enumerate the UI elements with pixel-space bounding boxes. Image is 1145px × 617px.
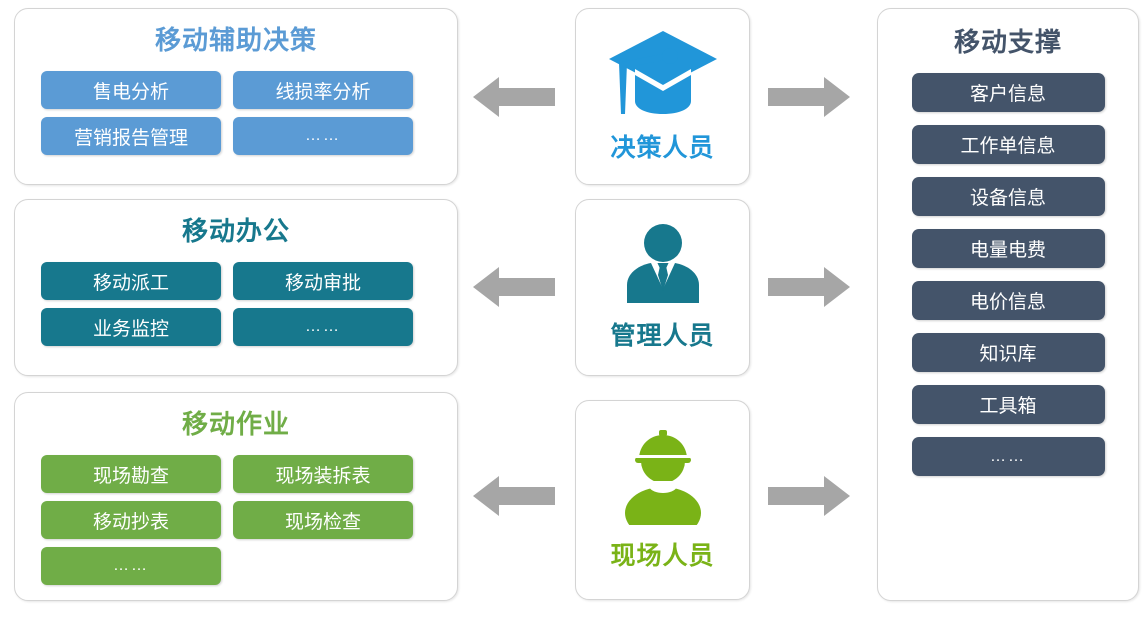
panel-mobile-support: 移动支撑 客户信息 工作单信息 设备信息 电量电费 电价信息 知识库 工具箱 …… bbox=[877, 8, 1139, 601]
arrow-right-field bbox=[768, 474, 850, 518]
chip-item[interactable]: 线损率分析 bbox=[233, 71, 413, 109]
chip-item[interactable]: 现场装拆表 bbox=[233, 455, 413, 493]
chip-item[interactable]: 营销报告管理 bbox=[41, 117, 221, 155]
arrow-right-office bbox=[768, 265, 850, 309]
arrow-left-decision bbox=[473, 75, 555, 119]
panel-chip-grid: 移动派工 移动审批 业务监控 …… bbox=[41, 262, 441, 346]
support-chip[interactable]: 电量电费 bbox=[912, 229, 1105, 268]
arrow-left-office bbox=[473, 265, 555, 309]
chip-item[interactable]: 移动抄表 bbox=[41, 501, 221, 539]
panel-mobile-decision-support: 移动辅助决策 售电分析 线损率分析 营销报告管理 …… bbox=[14, 8, 458, 185]
panel-title: 移动办公 bbox=[15, 218, 457, 244]
panel-title: 移动支撑 bbox=[878, 29, 1138, 55]
business-person-icon bbox=[613, 223, 713, 310]
panel-chip-grid: 现场勘查 现场装拆表 移动抄表 现场检查 …… bbox=[41, 455, 441, 585]
role-card-decision-maker[interactable]: 决策人员 bbox=[575, 8, 750, 185]
chip-item[interactable]: 现场勘查 bbox=[41, 455, 221, 493]
role-label: 管理人员 bbox=[610, 316, 714, 352]
support-chip[interactable]: 工作单信息 bbox=[912, 125, 1105, 164]
arrow-left-field bbox=[473, 474, 555, 518]
panel-mobile-field-work: 移动作业 现场勘查 现场装拆表 移动抄表 现场检查 …… bbox=[14, 392, 458, 601]
support-chip-more[interactable]: …… bbox=[912, 437, 1105, 476]
support-chip[interactable]: 电价信息 bbox=[912, 281, 1105, 320]
panel-title: 移动辅助决策 bbox=[15, 27, 457, 53]
chip-item[interactable]: 业务监控 bbox=[41, 308, 221, 346]
support-chip[interactable]: 设备信息 bbox=[912, 177, 1105, 216]
support-item-list: 客户信息 工作单信息 设备信息 电量电费 电价信息 知识库 工具箱 …… bbox=[878, 73, 1138, 476]
panel-title: 移动作业 bbox=[15, 411, 457, 437]
chip-item[interactable]: 现场检查 bbox=[233, 501, 413, 539]
role-card-field-staff[interactable]: 现场人员 bbox=[575, 400, 750, 600]
diagram-canvas: 移动辅助决策 售电分析 线损率分析 营销报告管理 …… 移动办公 移动派工 移动… bbox=[0, 0, 1145, 617]
chip-item[interactable]: 移动审批 bbox=[233, 262, 413, 300]
chip-item[interactable]: 售电分析 bbox=[41, 71, 221, 109]
role-card-manager[interactable]: 管理人员 bbox=[575, 199, 750, 376]
field-worker-icon bbox=[613, 429, 713, 530]
chip-item-more[interactable]: …… bbox=[233, 117, 413, 155]
support-chip[interactable]: 知识库 bbox=[912, 333, 1105, 372]
support-chip[interactable]: 工具箱 bbox=[912, 385, 1105, 424]
support-chip[interactable]: 客户信息 bbox=[912, 73, 1105, 112]
arrow-right-decision bbox=[768, 75, 850, 119]
graduation-cap-icon bbox=[607, 29, 719, 122]
role-label: 现场人员 bbox=[610, 536, 714, 572]
panel-mobile-office: 移动办公 移动派工 移动审批 业务监控 …… bbox=[14, 199, 458, 376]
role-label: 决策人员 bbox=[610, 128, 714, 164]
chip-item-more[interactable]: …… bbox=[41, 547, 221, 585]
panel-chip-grid: 售电分析 线损率分析 营销报告管理 …… bbox=[41, 71, 441, 155]
chip-item[interactable]: 移动派工 bbox=[41, 262, 221, 300]
chip-item-more[interactable]: …… bbox=[233, 308, 413, 346]
